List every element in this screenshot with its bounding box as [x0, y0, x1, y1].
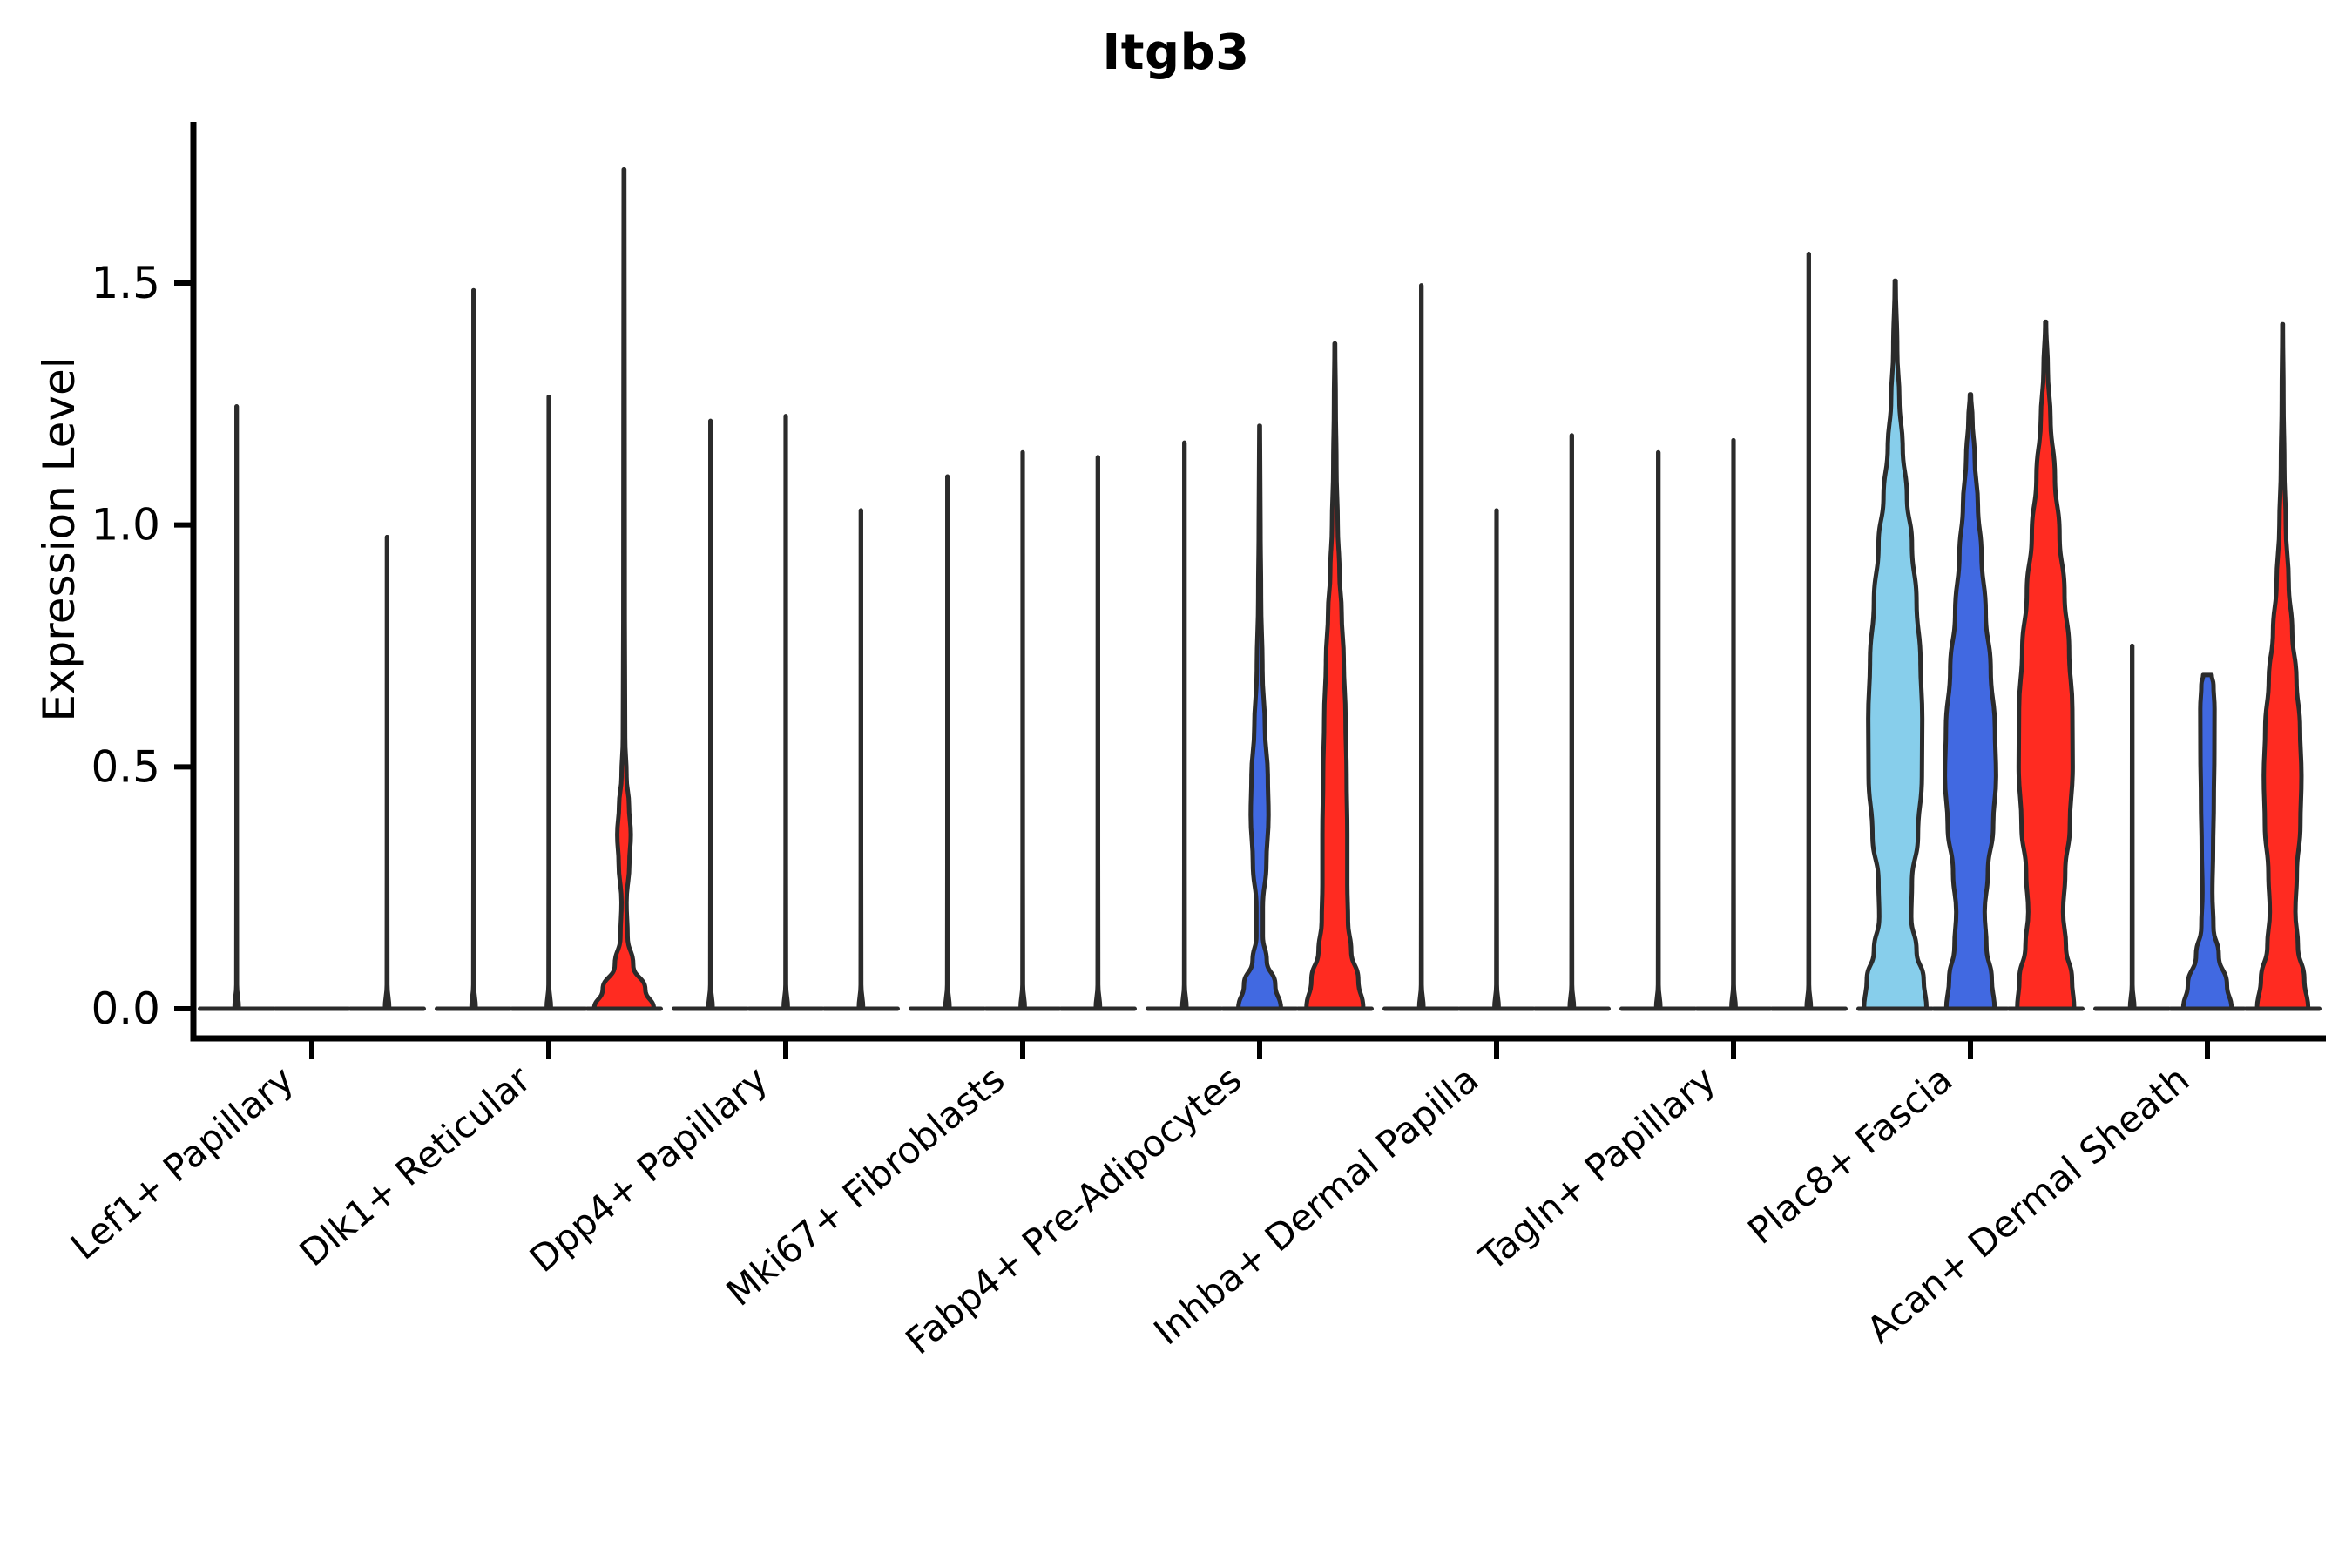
- x-tick-label-1: Dlk1+ Reticular: [292, 1058, 539, 1275]
- y-tick-layer: 0.00.51.01.5: [91, 258, 193, 1034]
- violin-plot-figure: Itgb3 Expression Level 0.00.51.01.5 Lef1…: [0, 0, 2352, 1568]
- violin-group-2: [1945, 395, 1997, 1009]
- violin-group-3: [2017, 321, 2074, 1009]
- x-tick-layer: Lef1+ PapillaryDlk1+ ReticularDpp4+ Papi…: [63, 1038, 2207, 1362]
- y-tick-label: 1.5: [91, 258, 160, 308]
- y-tick-label: 0.5: [91, 741, 160, 792]
- violin-group-2: [1239, 426, 1281, 1009]
- violin-group-3: [1307, 343, 1363, 1009]
- violin-group-1: [1864, 280, 1927, 1009]
- violin-group-3: [594, 170, 654, 1010]
- y-tick-label: 0.0: [91, 983, 160, 1034]
- x-tick-label-7: Plac8+ Fascia: [1740, 1058, 1960, 1253]
- plot-canvas: 0.00.51.01.5 Lef1+ PapillaryDlk1+ Reticu…: [0, 0, 2352, 1568]
- violin-group-2: [2183, 675, 2231, 1009]
- x-tick-label-0: Lef1+ Papillary: [63, 1058, 302, 1267]
- violin-layer: [199, 170, 2319, 1010]
- y-tick-label: 1.0: [91, 500, 160, 551]
- violin-group-3: [2257, 324, 2308, 1009]
- x-tick-label-6: Tagln+ Papillary: [1470, 1058, 1723, 1280]
- x-tick-label-2: Dpp4+ Papillary: [522, 1058, 776, 1281]
